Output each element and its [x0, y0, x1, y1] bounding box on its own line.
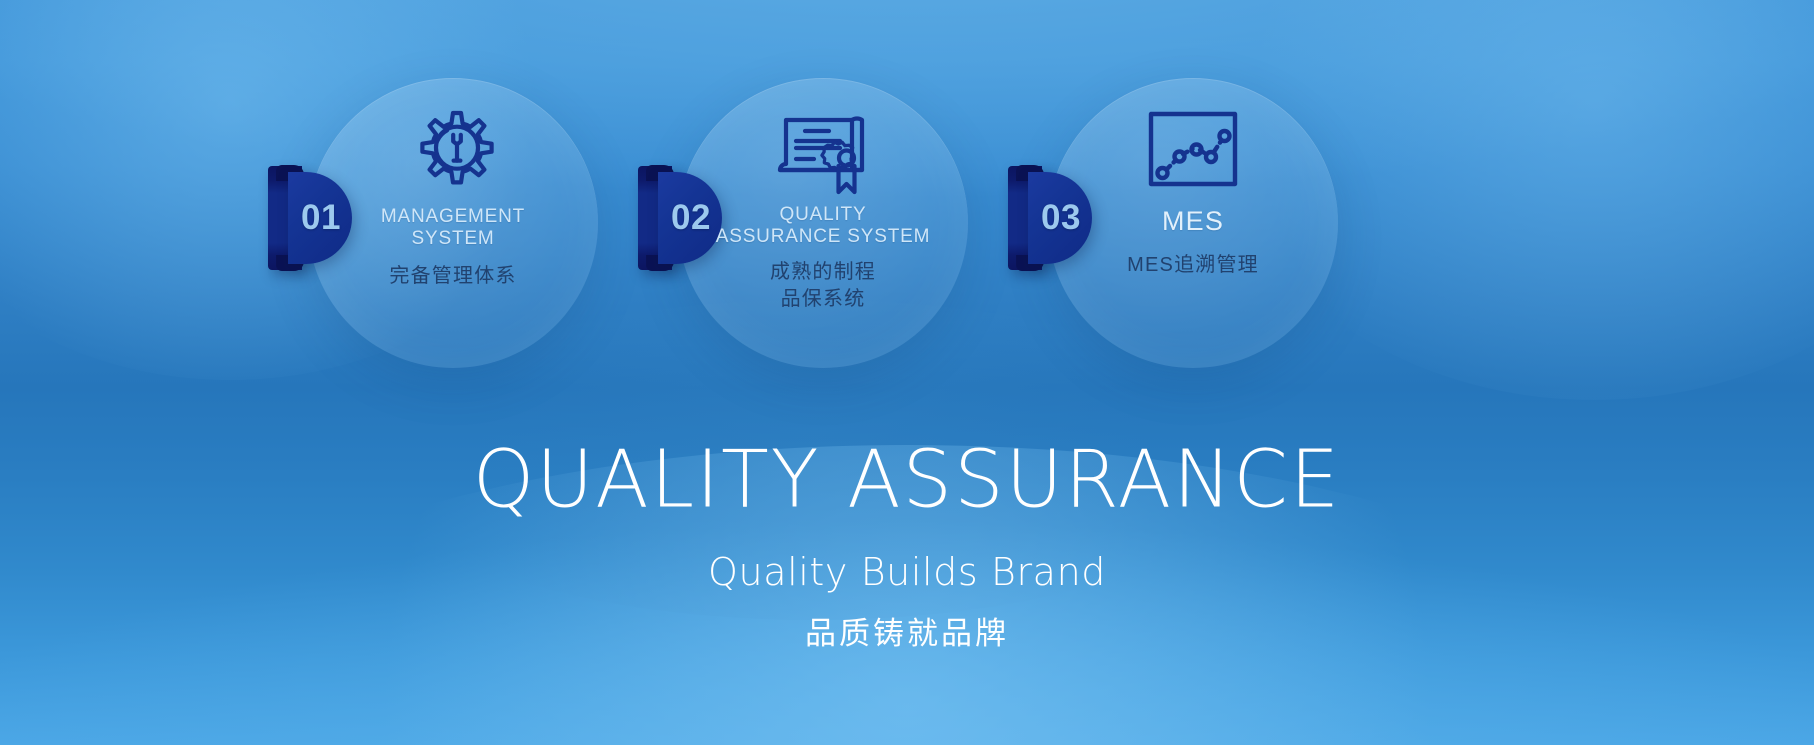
quality-assurance-banner: 01	[0, 0, 1814, 745]
banner-title: QUALITY ASSURANCE	[0, 439, 1814, 523]
banner-subtitle-cn: 品质铸就品牌	[0, 608, 1814, 653]
card-title-en: QUALITY ASSURANCE SYSTEM	[716, 204, 930, 249]
card-title-cn-line1: 完备管理体系	[389, 263, 516, 290]
card-title-cn: 成熟的制程 品保系统	[770, 259, 876, 313]
feature-card-management-system[interactable]: 01	[308, 78, 598, 368]
feature-card-quality-assurance-system[interactable]: 02	[678, 78, 968, 368]
card-title-en-line1: QUALITY	[716, 204, 930, 226]
card-title-cn-line2: 品保系统	[770, 286, 876, 313]
card-content: MANAGEMENT SYSTEM 完备管理体系	[308, 78, 598, 368]
card-title-en: MANAGEMENT SYSTEM	[381, 206, 525, 251]
card-title-en-line1: MANAGEMENT	[381, 206, 525, 228]
card-title-en-line1: MES	[1162, 206, 1224, 238]
feature-card-mes[interactable]: 03	[1048, 78, 1338, 368]
card-title-cn-line1: MES追溯管理	[1127, 252, 1259, 279]
card-title-en: MES	[1162, 206, 1224, 238]
card-title-cn: 完备管理体系	[389, 263, 516, 290]
card-content: QUALITY ASSURANCE SYSTEM 成熟的制程 品保系统	[678, 78, 968, 368]
card-title-en-line2: ASSURANCE SYSTEM	[716, 226, 930, 248]
certificate-seal-icon	[768, 104, 878, 200]
banner-subtitle-en: Quality Builds Brand	[0, 550, 1814, 594]
card-content: MES MES追溯管理	[1048, 78, 1338, 368]
feature-card-row: 01	[0, 0, 1814, 420]
headline-block: QUALITY ASSURANCE Quality Builds Brand 品…	[0, 440, 1814, 653]
card-title-cn: MES追溯管理	[1127, 252, 1259, 279]
trend-chart-icon	[1142, 104, 1244, 200]
gear-wrench-icon	[399, 104, 507, 200]
card-title-en-line2: SYSTEM	[381, 228, 525, 250]
card-title-cn-line1: 成熟的制程	[770, 259, 876, 286]
